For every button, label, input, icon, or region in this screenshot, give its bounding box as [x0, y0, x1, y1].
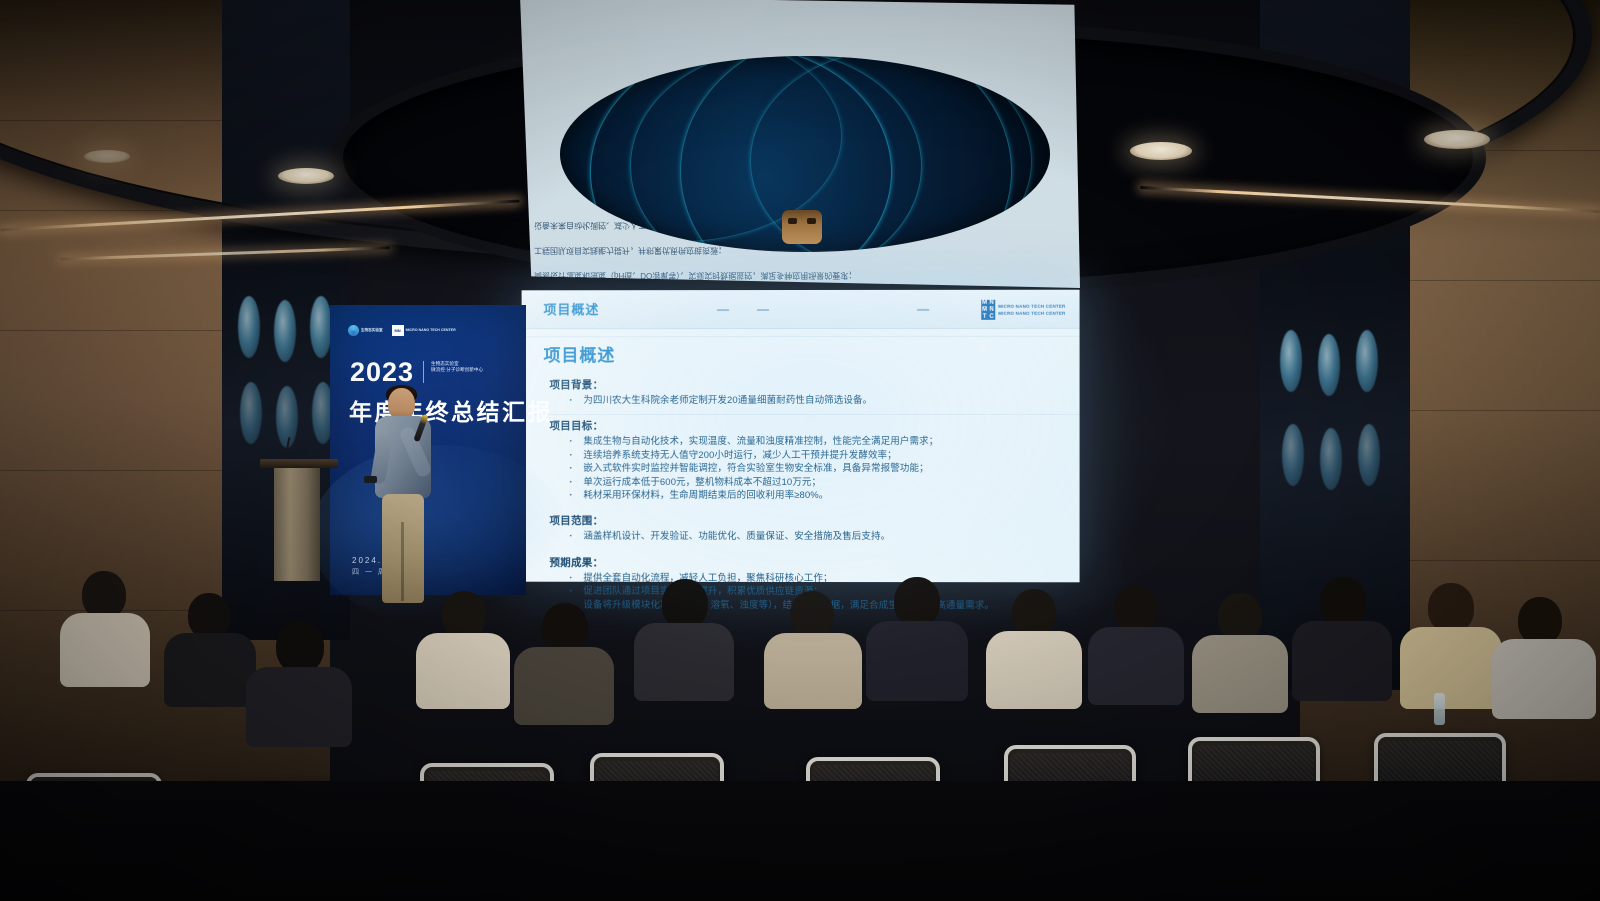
banner-logos: 生物态实验室 MN MICRO NANO TECH CENTER [348, 325, 456, 336]
slide-section: 项目背景： 为四川农大生科院余老师定制开发20通量细菌耐药性自动筛选设备。 [549, 377, 1079, 408]
bullet-item: 集成生物与自动化技术，实现温度、流量和浊度精准控制，性能完全满足用户需求； [583, 435, 1079, 448]
banner-subtitle-line2: 微流控·分子诊断创新中心 [431, 367, 483, 373]
banner-year: 2023 [350, 357, 414, 388]
brand-square-icon: MN [392, 325, 404, 336]
banner-logo-right-text: MICRO NANO TECH CENTER [406, 328, 456, 333]
slide-header-title: 项目概述 [544, 299, 600, 318]
slide-title: 项目概述 [544, 341, 1080, 366]
bullet-item: 嵌入式软件实时监控并智能调控，符合实验室生物安全标准，具备异常报警功能； [583, 462, 1079, 476]
bullet-item: 为四川农大生科院余老师定制开发20通量细菌耐药性自动筛选设备。 [583, 394, 1079, 408]
logo-text-2: MICRO NANO TECH CENTER [998, 311, 1065, 317]
screenshot-root: 简易设计温度和浊度（pH值、DO溶氧等）、实现实时数据监控，满足多种应用场景的要… [0, 0, 1600, 901]
section-heading: 项目背景： [549, 377, 1079, 392]
brand-swirl-icon [348, 325, 359, 336]
ceiling-slide-reflection: 简易设计温度和浊度（pH值、DO溶氧等）、实现实时数据监控，满足多种应用场景的要… [520, 0, 1080, 288]
logo-mark-icon-2: MNTC [981, 307, 995, 320]
floor [0, 781, 1600, 901]
section-heading: 项目目标： [549, 418, 1079, 433]
slide-body-logo: MNTC MICRO NANO TECH CENTER [981, 307, 1065, 320]
bullet-item: 连续培养系统支持无人值守200小时运行，减少人工干预并提升发酵效率； [583, 449, 1079, 462]
banner-subtitle: 生物态实验室 微流控·分子诊断创新中心 [431, 361, 483, 374]
section-bullets: 为四川农大生科院余老师定制开发20通量细菌耐药性自动筛选设备。 [549, 394, 1079, 408]
water-bottle [1434, 693, 1445, 725]
banner-logo-left-text: 生物态实验室 [361, 328, 383, 333]
reflected-device-icon [782, 210, 822, 244]
